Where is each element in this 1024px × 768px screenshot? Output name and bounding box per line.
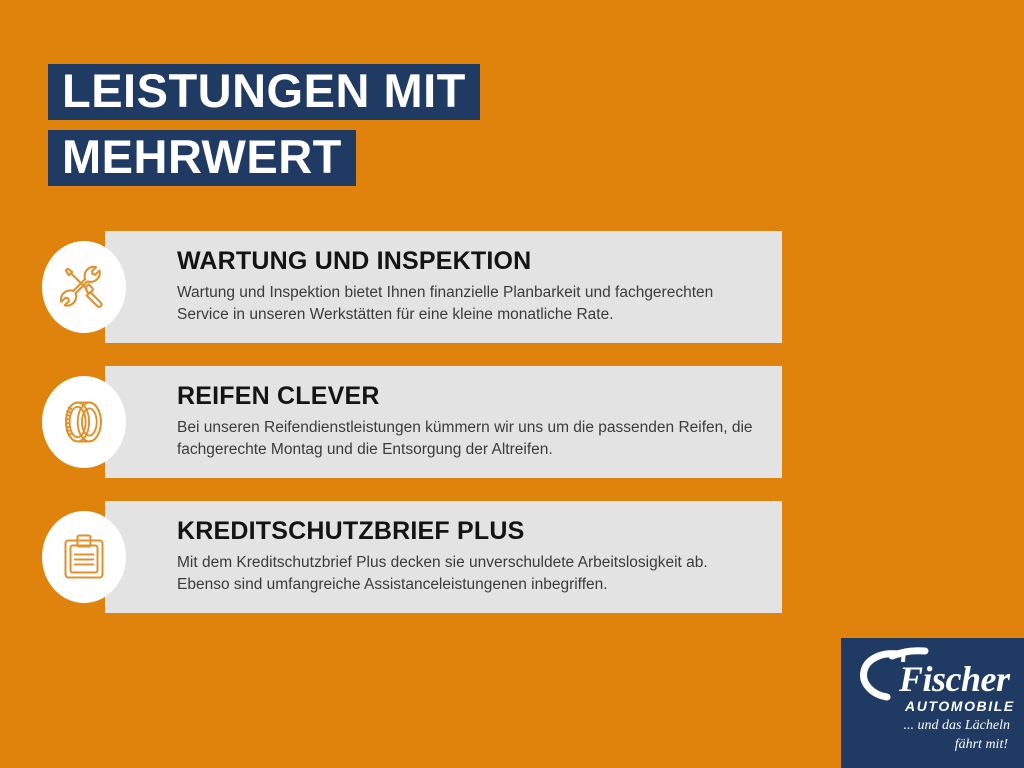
headline-line-1: LEISTUNGEN MIT [48, 64, 480, 120]
slide-root: LEISTUNGEN MIT MEHRWERT WARTUNG UND INSP… [0, 0, 1024, 768]
service-card-kreditschutzbrief-plus[interactable]: KREDITSCHUTZBRIEF PLUS Mit dem Kreditsch… [105, 501, 782, 613]
clipboard-icon [42, 511, 126, 603]
card-body: Bei unseren Reifendienstleistungen kümme… [177, 417, 758, 461]
card-body: Mit dem Kreditschutzbrief Plus decken si… [177, 552, 758, 596]
logo-subtitle: AUTOMOBILE [905, 698, 1015, 714]
service-card-reifen-clever[interactable]: REIFEN CLEVER Bei unseren Reifendienstle… [105, 366, 782, 478]
logo-tagline: ... und das Lächeln fährt mit! [841, 716, 1024, 754]
logo-wordmark: Fischer [899, 660, 1010, 698]
card-title: REIFEN CLEVER [177, 381, 758, 411]
service-card-wartung-und-inspektion[interactable]: WARTUNG UND INSPEKTION Wartung und Inspe… [105, 231, 782, 343]
tire-icon [42, 376, 126, 468]
service-card-list: WARTUNG UND INSPEKTION Wartung und Inspe… [0, 231, 1024, 613]
page-title: LEISTUNGEN MIT MEHRWERT [48, 64, 480, 186]
headline-line-2: MEHRWERT [48, 130, 356, 186]
logo-tagline-line-2: fährt mit! [841, 735, 1010, 754]
logo-tagline-line-1: ... und das Lächeln [841, 716, 1010, 735]
card-title: KREDITSCHUTZBRIEF PLUS [177, 516, 758, 546]
wrench-screwdriver-icon [42, 241, 126, 333]
brand-logo: Fischer AUTOMOBILE ... und das Lächeln f… [841, 638, 1024, 768]
card-title: WARTUNG UND INSPEKTION [177, 246, 758, 276]
card-body: Wartung und Inspektion bietet Ihnen fina… [177, 282, 758, 326]
logo-mark: Fischer AUTOMOBILE [853, 646, 1018, 708]
